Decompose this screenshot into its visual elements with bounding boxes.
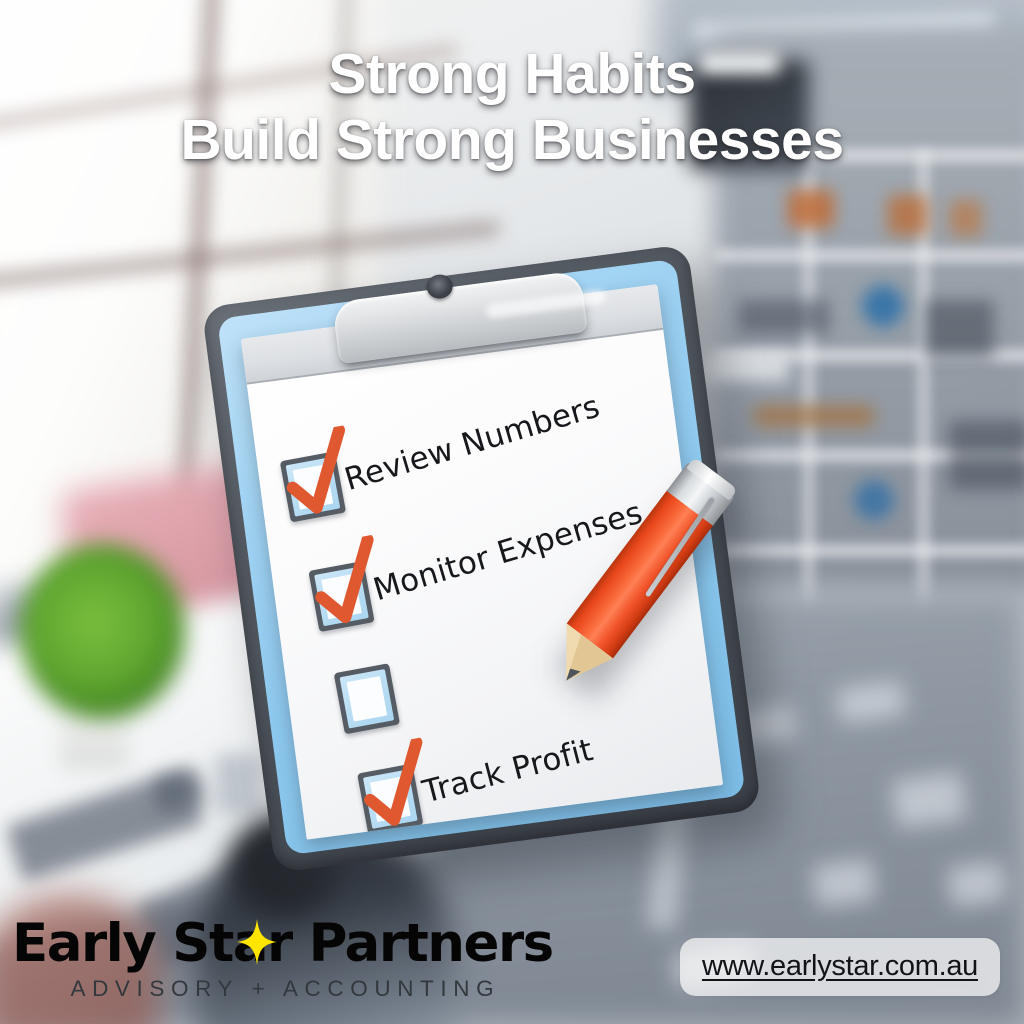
logo-name-part2: r Partners [267,913,553,974]
checklist-label-0: Review Numbers [341,389,604,498]
shelf-object [788,190,834,228]
website-url[interactable]: www.earlystar.com.au [702,950,978,982]
logo-tagline: ADVISORY + ACCOUNTING [12,976,553,1002]
checklist-label-3: Track Profit [419,732,597,810]
shelf-object [862,285,904,327]
logo-name-part1: Early Sta [12,913,267,974]
floor-highlight [811,858,876,908]
headline-line-1: Strong Habits [0,42,1024,108]
shelf-line [714,250,1024,261]
checkbox-1[interactable] [308,561,374,632]
checklist-item-2[interactable] [334,662,406,734]
checkbox-inner [347,676,388,722]
checkbox-inner [293,464,334,510]
shelf-object [924,300,994,360]
shelf-object [754,405,874,427]
brand-logo: Early Star Partners ADVISORY + ACCOUNTIN… [12,917,553,1002]
checkbox-inner [370,776,411,822]
floor-highlight [891,771,967,828]
checkbox-3[interactable] [357,764,423,835]
website-badge[interactable]: www.earlystar.com.au [680,938,1000,996]
shelf-object [888,195,928,235]
shelf-object [854,480,894,520]
checkbox-inner [321,574,362,620]
headline: Strong Habits Build Strong Businesses [0,42,1024,173]
four-point-star-icon [236,919,278,965]
desk-object [215,754,261,814]
plant-foliage [20,544,185,719]
shelf-object [949,420,1024,490]
logo-wordmark: Early Star Partners [12,917,553,970]
shelf-object [739,300,829,334]
floor-highlight [946,860,1006,907]
checkbox-2[interactable] [334,663,400,734]
poster-canvas: Strong Habits Build Strong Businesses Re [0,0,1024,1024]
checkbox-0[interactable] [280,451,346,522]
shelf-object [950,200,982,236]
checklist-item-0[interactable]: Review Numbers [280,402,612,522]
clipboard: Review Numbers Monitor Expenses [201,239,801,912]
headline-line-2: Build Strong Businesses [0,108,1024,174]
